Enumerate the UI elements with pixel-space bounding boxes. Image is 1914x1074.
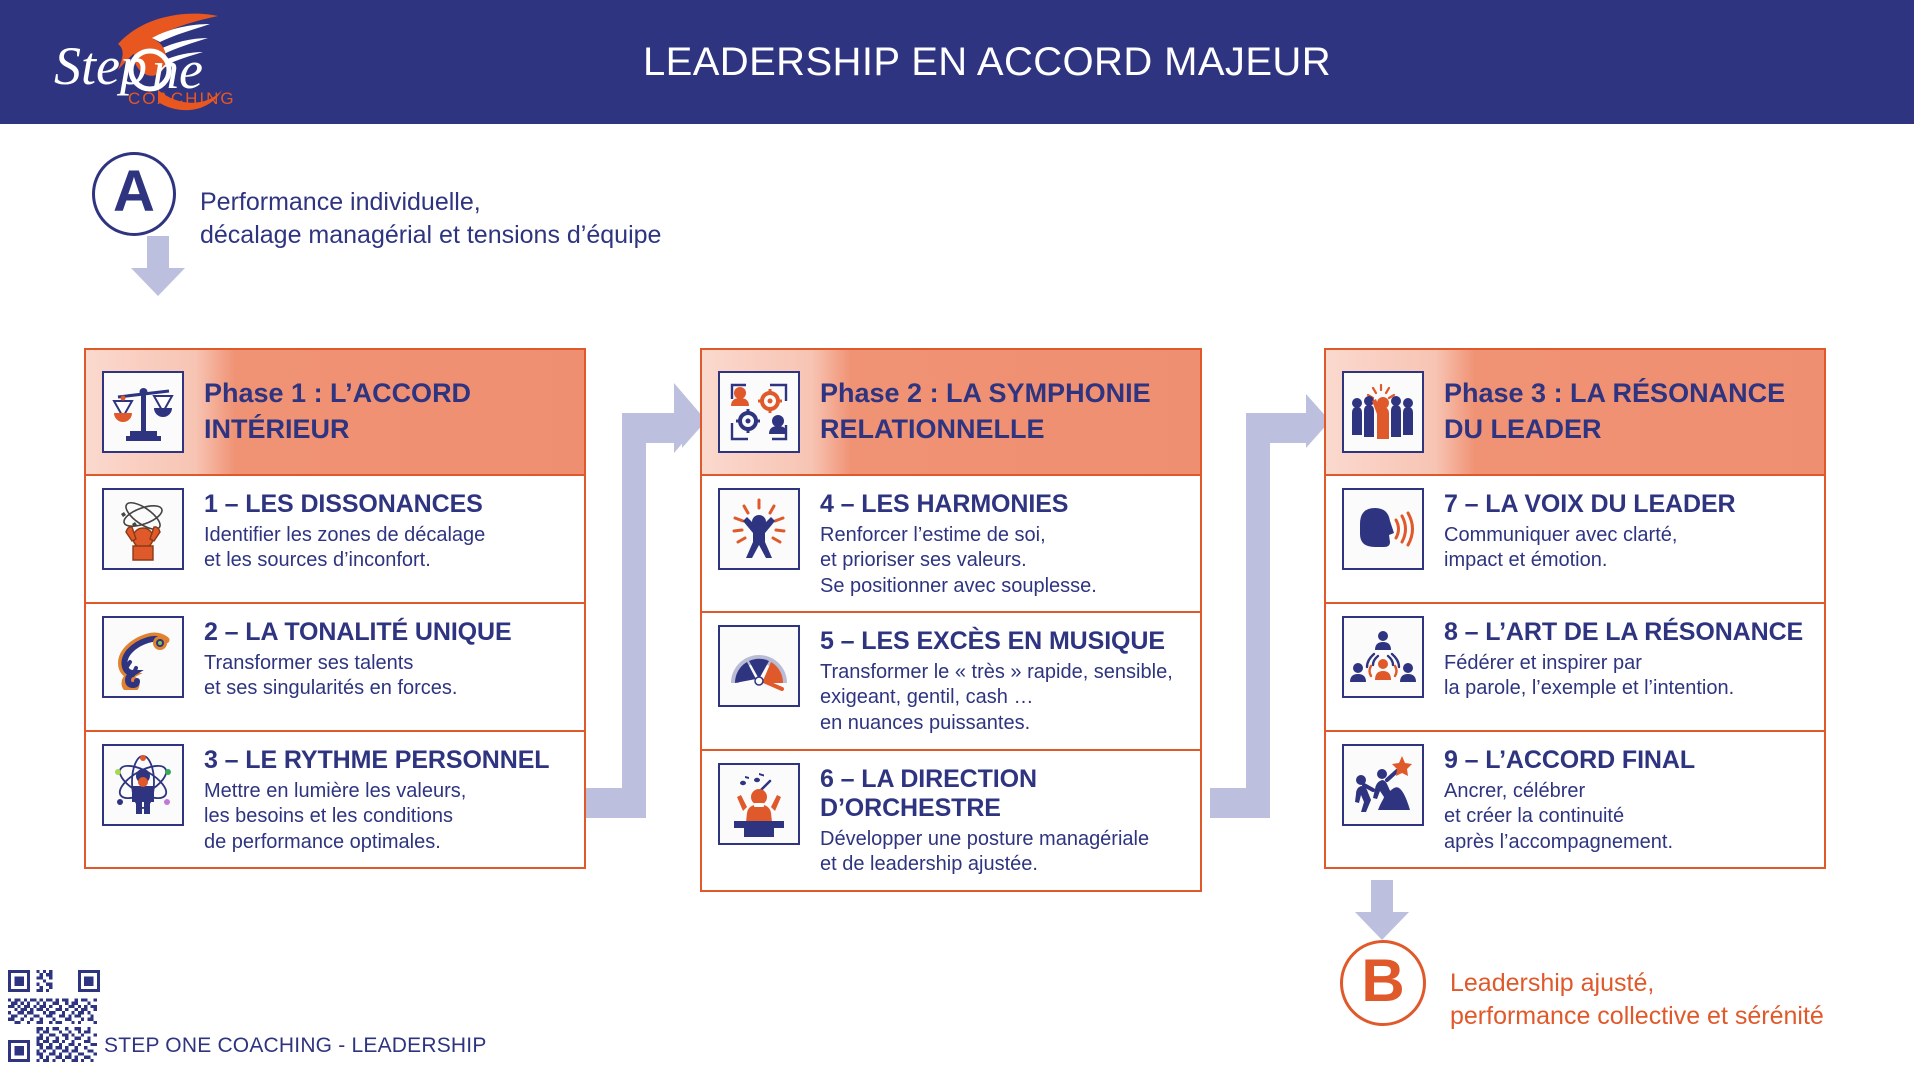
item-5-desc-line1: Transformer le « très » rapide, sensible… [820, 660, 1173, 686]
item-6[interactable]: 6 – LA DIRECTION D’ORCHESTRE Développer … [700, 751, 1202, 892]
badge-a-label: A [113, 163, 155, 221]
item-7-desc: Communiquer avec clarté, impact et émoti… [1444, 523, 1735, 574]
item-7-title: 7 – LA VOIX DU LEADER [1444, 490, 1735, 520]
item-4-desc-line1: Renforcer l’estime de soi, [820, 523, 1097, 549]
phase-1-column: Phase 1 : L’ACCORD INTÉRIEUR 1 – LES DI [84, 348, 586, 869]
item-8-desc-line2: la parole, l’exemple et l’intention. [1444, 676, 1803, 702]
item-1-desc: Identifier les zones de décalage et les … [204, 523, 485, 574]
arrow-down-to-phase1-icon [128, 236, 188, 298]
item-4-desc-line2: et prioriser ses valeurs. [820, 548, 1097, 574]
phase-2-header[interactable]: Phase 2 : LA SYMPHONIE RELATIONNELLE [700, 348, 1202, 476]
item-9-title: 9 – L’ACCORD FINAL [1444, 746, 1695, 776]
page-title: LEADERSHIP EN ACCORD MAJEUR [0, 0, 1914, 124]
phase-2-title-line1: Phase 2 : LA SYMPHONIE [820, 376, 1151, 412]
phase-3-column: Phase 3 : LA RÉSONANCE DU LEADER 7 – LA … [1324, 348, 1826, 869]
item-4-title: 4 – LES HARMONIES [820, 490, 1097, 520]
gauge-icon [718, 625, 800, 707]
badge-b-label: B [1361, 951, 1404, 1011]
connector-phase2-to-phase3-icon [1210, 368, 1330, 823]
item-6-desc-line1: Développer une posture managériale [820, 827, 1149, 853]
item-4-desc-line3: Se positionner avec souplesse. [820, 574, 1097, 600]
item-5-title: 5 – LES EXCÈS EN MUSIQUE [820, 627, 1173, 657]
conductor-icon [718, 763, 800, 845]
phase-3-title-line2: DU LEADER [1444, 412, 1785, 448]
item-8[interactable]: 8 – L’ART DE LA RÉSONANCE Fédérer et ins… [1324, 604, 1826, 732]
phase-1-header[interactable]: Phase 1 : L’ACCORD INTÉRIEUR [84, 348, 586, 476]
connector-phase1-to-phase2-icon [586, 368, 706, 823]
badge-a: A [92, 152, 176, 236]
item-2-title: 2 – LA TONALITÉ UNIQUE [204, 618, 512, 648]
item-1[interactable]: 1 – LES DISSONANCES Identifier les zones… [84, 476, 586, 604]
phase-2-title: Phase 2 : LA SYMPHONIE RELATIONNELLE [820, 376, 1161, 447]
item-3-desc: Mettre en lumière les valeurs, les besoi… [204, 779, 549, 856]
phase-1-title-line2: INTÉRIEUR [204, 412, 471, 448]
audience-resonance-icon [1342, 616, 1424, 698]
item-9-desc-line3: après l’accompagnement. [1444, 830, 1695, 856]
group-leader-icon [1342, 371, 1424, 453]
atom-person-icon [102, 744, 184, 826]
item-8-desc-line1: Fédérer et inspirer par [1444, 651, 1803, 677]
person-atom-orbit-icon [102, 488, 184, 570]
phase-3-title-line1: Phase 3 : LA RÉSONANCE [1444, 376, 1785, 412]
item-7-desc-line1: Communiquer avec clarté, [1444, 523, 1735, 549]
item-2-desc-line2: et ses singularités en forces. [204, 676, 512, 702]
item-2-desc: Transformer ses talents et ses singulari… [204, 651, 512, 702]
item-5-desc: Transformer le « très » rapide, sensible… [820, 660, 1173, 737]
phase-2-title-line2: RELATIONNELLE [820, 412, 1151, 448]
item-3-desc-line2: les besoins et les conditions [204, 804, 549, 830]
item-9[interactable]: 9 – L’ACCORD FINAL Ancrer, célébrer et c… [1324, 732, 1826, 869]
badge-b: B [1340, 940, 1426, 1026]
item-7-desc-line2: impact et émotion. [1444, 548, 1735, 574]
item-6-desc-line2: et de leadership ajustée. [820, 852, 1149, 878]
item-6-title-line2: D’ORCHESTRE [820, 794, 1149, 824]
celebrating-person-icon [718, 488, 800, 570]
item-1-title: 1 – LES DISSONANCES [204, 490, 485, 520]
item-9-desc-line2: et créer la continuité [1444, 804, 1695, 830]
item-6-title-line1: 6 – LA DIRECTION [820, 765, 1149, 795]
phase-3-header[interactable]: Phase 3 : LA RÉSONANCE DU LEADER [1324, 348, 1826, 476]
item-4[interactable]: 4 – LES HARMONIES Renforcer l’estime de … [700, 476, 1202, 613]
qr-code-icon[interactable] [8, 970, 100, 1062]
item-3-desc-line1: Mettre en lumière les valeurs, [204, 779, 549, 805]
item-2[interactable]: 2 – LA TONALITÉ UNIQUE Transformer ses t… [84, 604, 586, 732]
title-bar: Step ne COACHING LEADERSHIP EN ACCORD MA… [0, 0, 1914, 124]
phase-1-title-line1: Phase 1 : L’ACCORD [204, 376, 471, 412]
people-gears-icon [718, 371, 800, 453]
speaking-head-icon [1342, 488, 1424, 570]
outro-text: Leadership ajusté, performance collectiv… [1450, 967, 1914, 1032]
item-5-desc-line3: en nuances puissantes. [820, 711, 1173, 737]
arrow-down-to-outcome-icon [1352, 880, 1412, 942]
item-8-desc: Fédérer et inspirer par la parole, l’exe… [1444, 651, 1803, 702]
balance-scale-icon [102, 371, 184, 453]
phase-1-title: Phase 1 : L’ACCORD INTÉRIEUR [204, 376, 481, 447]
slide-canvas: Step ne COACHING LEADERSHIP EN ACCORD MA… [0, 0, 1914, 1074]
intro-line-1: Performance individuelle, [200, 186, 840, 219]
item-7[interactable]: 7 – LA VOIX DU LEADER Communiquer avec c… [1324, 476, 1826, 604]
item-6-desc: Développer une posture managériale et de… [820, 827, 1149, 878]
summit-help-star-icon [1342, 744, 1424, 826]
phase-3-title: Phase 3 : LA RÉSONANCE DU LEADER [1444, 376, 1795, 447]
item-2-desc-line1: Transformer ses talents [204, 651, 512, 677]
item-6-title: 6 – LA DIRECTION D’ORCHESTRE [820, 765, 1149, 824]
outro-line-1: Leadership ajusté, [1450, 967, 1914, 1000]
item-3-desc-line3: de performance optimales. [204, 830, 549, 856]
intro-line-2: décalage managérial et tensions d’équipe [200, 219, 840, 252]
item-5-desc-line2: exigeant, gentil, cash … [820, 685, 1173, 711]
item-9-desc-line1: Ancrer, célébrer [1444, 779, 1695, 805]
outro-line-2: performance collective et sérénité [1450, 1000, 1914, 1033]
item-1-desc-line2: et les sources d’inconfort. [204, 548, 485, 574]
phase-2-column: Phase 2 : LA SYMPHONIE RELATIONNELLE [700, 348, 1202, 892]
item-1-desc-line1: Identifier les zones de décalage [204, 523, 485, 549]
item-3-title: 3 – LE RYTHME PERSONNEL [204, 746, 549, 776]
chameleon-icon [102, 616, 184, 698]
item-4-desc: Renforcer l’estime de soi, et prioriser … [820, 523, 1097, 600]
footer-label: STEP ONE COACHING - LEADERSHIP [104, 1034, 487, 1058]
item-8-title: 8 – L’ART DE LA RÉSONANCE [1444, 618, 1803, 648]
intro-text: Performance individuelle, décalage manag… [200, 186, 840, 251]
item-3[interactable]: 3 – LE RYTHME PERSONNEL Mettre en lumièr… [84, 732, 586, 869]
item-5[interactable]: 5 – LES EXCÈS EN MUSIQUE Transformer le … [700, 613, 1202, 750]
item-9-desc: Ancrer, célébrer et créer la continuité … [1444, 779, 1695, 856]
